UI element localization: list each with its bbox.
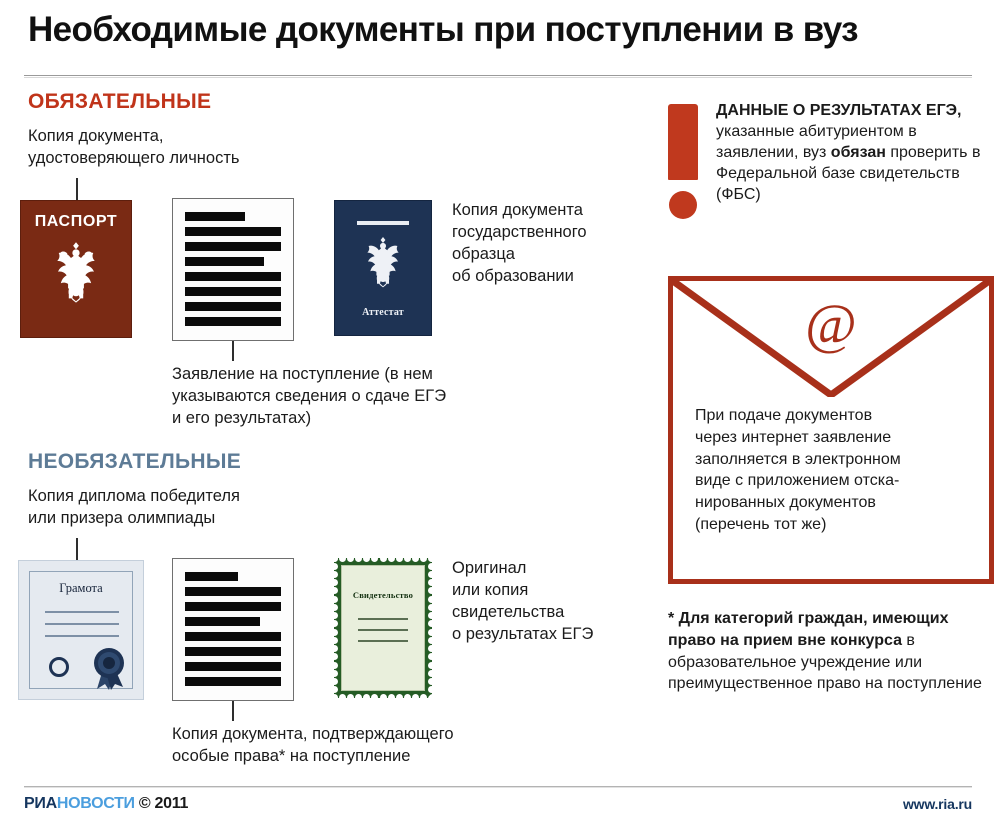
gramota-certificate-icon: Грамота	[18, 560, 144, 700]
double-headed-eagle-icon	[39, 235, 113, 307]
logo-ria: РИА	[24, 795, 57, 812]
at-symbol-icon: @	[673, 297, 989, 353]
notice-envelope-text: При подаче документов через интернет зая…	[695, 405, 987, 536]
notice-ege-bold-lead: ДАННЫЕ О РЕЗУЛЬТАТАХ ЕГЭ,	[716, 102, 961, 119]
site-url[interactable]: www.ria.ru	[903, 796, 972, 812]
page-title: Необходимые документы при поступлении в …	[28, 10, 970, 50]
gramota-label: Грамота	[19, 581, 143, 596]
connector-line	[76, 538, 78, 560]
copyright-text: © 2011	[139, 795, 188, 812]
caption-passport: Копия документа, удостоверяющего личност…	[28, 126, 328, 170]
logo-novosti: НОВОСТИ	[57, 795, 135, 812]
connector-line	[76, 178, 78, 200]
stamp-perforation	[331, 558, 338, 698]
exclamation-mark-icon	[668, 104, 698, 219]
stamp-label: Свидетельство	[342, 590, 424, 600]
connector-line	[232, 701, 234, 721]
passport-icon: ПАСПОРТ	[20, 200, 132, 338]
left-column: ОБЯЗАТЕЛЬНЫЕ Копия документа, удостоверя…	[0, 90, 640, 790]
connector-line	[232, 341, 234, 361]
footer-divider	[24, 786, 972, 788]
header-divider	[24, 75, 972, 78]
svidetelstvo-stamp-icon: Свидетельство	[334, 558, 432, 698]
stamp-perforation	[428, 558, 435, 698]
seal-icon	[49, 657, 69, 677]
footer: РИАНОВОСТИ © 2011 www.ria.ru	[24, 795, 972, 819]
caption-special-rights: Копия документа, подтверждающего особые …	[172, 724, 572, 768]
section-heading-optional: НЕОБЯЗАТЕЛЬНЫЕ	[28, 450, 241, 474]
notice-ege-bold-mid: обязан	[831, 144, 886, 161]
stamp-perforation	[334, 694, 432, 701]
caption-attestat: Копия документа государственного образца…	[452, 200, 652, 288]
rosette-ribbon-icon	[89, 643, 129, 691]
caption-gramota: Копия диплома победителя или призера оли…	[28, 486, 348, 530]
section-heading-mandatory: ОБЯЗАТЕЛЬНЫЕ	[28, 90, 211, 114]
page-header: Необходимые документы при поступлении в …	[28, 10, 970, 50]
envelope-icon: @ При подаче документов через интернет з…	[668, 276, 994, 584]
ria-novosti-logo: РИАНОВОСТИ © 2011	[24, 795, 188, 813]
stamp-inner: Свидетельство	[341, 565, 425, 691]
attestat-icon: Аттестат	[334, 200, 432, 336]
right-column: ДАННЫЕ О РЕЗУЛЬТАТАХ ЕГЭ, указанные абит…	[660, 90, 998, 790]
document-icon-application	[172, 198, 294, 341]
double-headed-eagle-icon	[353, 231, 413, 291]
caption-svidetelstvo: Оригинал или копия свидетельства о резул…	[452, 558, 642, 646]
notice-ege-check: ДАННЫЕ О РЕЗУЛЬТАТАХ ЕГЭ, указанные абит…	[716, 100, 998, 206]
attestat-rule	[357, 221, 409, 225]
passport-label: ПАСПОРТ	[35, 213, 118, 231]
attestat-label: Аттестат	[362, 307, 404, 318]
footnote-special-rights: * Для категорий граждан, имеющих право н…	[668, 608, 990, 695]
caption-application: Заявление на поступление (в нем указываю…	[172, 364, 552, 430]
stamp-perforation	[334, 555, 432, 562]
document-icon-special-rights	[172, 558, 294, 701]
